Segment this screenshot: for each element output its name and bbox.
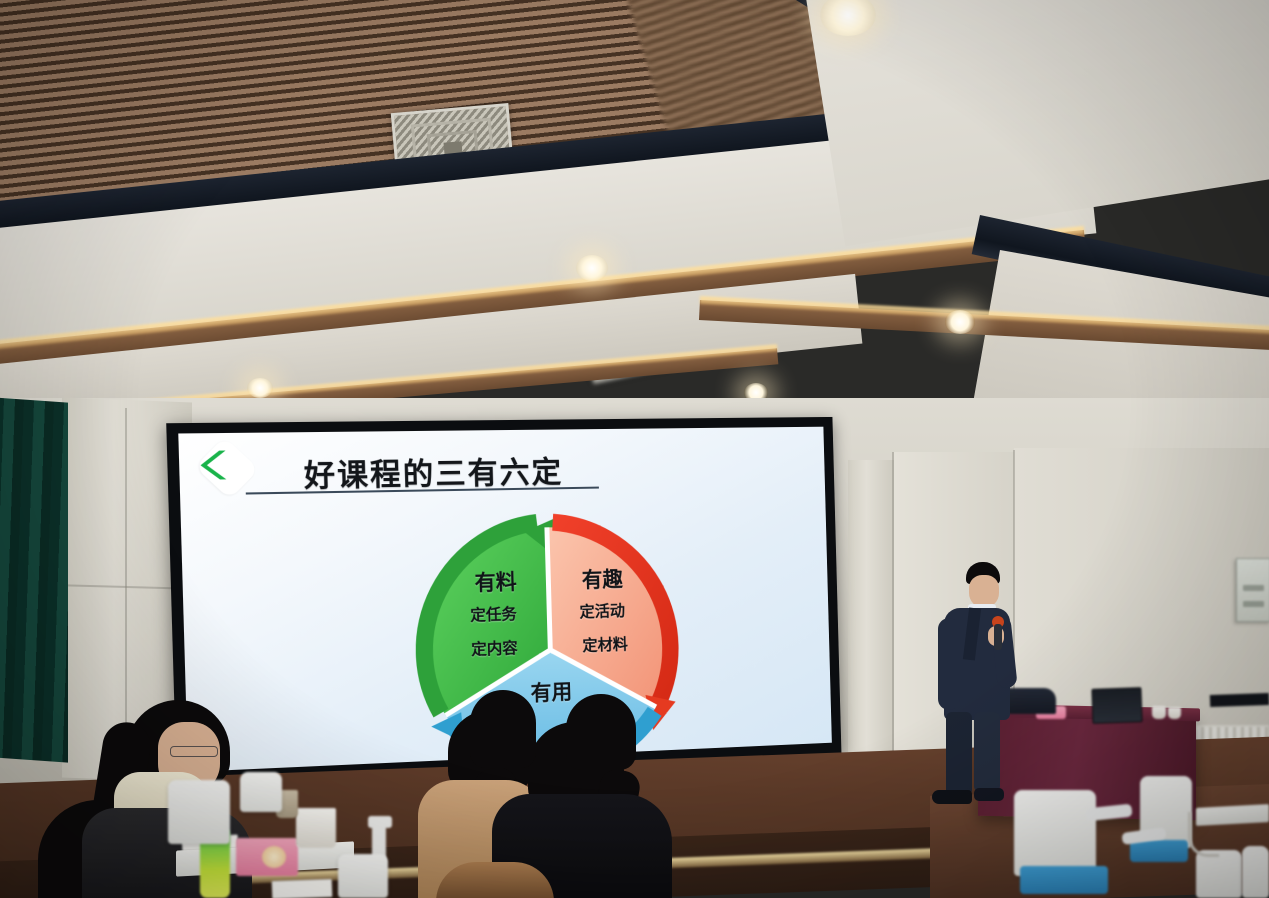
audience-member	[470, 690, 540, 770]
presenter-shoe	[932, 790, 972, 804]
desk-lamp-head	[368, 816, 392, 828]
audience-member	[436, 862, 556, 898]
downlight-icon	[576, 255, 608, 281]
presenter-leg-left	[946, 712, 972, 796]
wall-sign	[1236, 558, 1269, 622]
downlight-icon	[945, 310, 975, 334]
presenter-shoe	[974, 788, 1004, 801]
audience-member	[566, 694, 638, 774]
green-chevron-left-icon	[198, 447, 231, 483]
segment-red-heading: 有趣	[563, 563, 642, 595]
curtain	[0, 397, 68, 762]
presenter-leg-right	[974, 712, 1000, 792]
segment-green-item-2: 定内容	[449, 635, 540, 660]
ceiling-panel-right-1	[800, 0, 1269, 246]
chair	[168, 780, 230, 844]
chair-seat	[1020, 866, 1108, 894]
wall-seam	[892, 452, 894, 782]
wall-bracket	[1210, 693, 1269, 707]
segment-red-item-1: 定活动	[558, 598, 647, 622]
laptop	[1091, 687, 1142, 724]
segment-divider	[547, 527, 550, 650]
segment-green-item-1: 定任务	[448, 601, 539, 626]
presenter-arm-left	[938, 618, 960, 710]
chair	[240, 772, 282, 812]
chair	[1196, 850, 1242, 898]
paper-cup	[296, 808, 336, 848]
pink-case-highlight	[262, 846, 286, 868]
cable	[1188, 812, 1219, 857]
audience-hair	[470, 690, 536, 768]
audience-hair	[436, 862, 554, 898]
paper-cup	[1168, 707, 1181, 719]
audience-hair	[566, 694, 636, 770]
chair	[1242, 846, 1269, 898]
microphone-body	[994, 624, 1002, 650]
segment-red-item-2: 定材料	[561, 632, 649, 657]
segment-green-heading: 有料	[455, 566, 536, 598]
glasses-icon	[170, 746, 218, 757]
chair	[1014, 790, 1096, 876]
wall-pillar-right	[848, 460, 894, 790]
paper-cup	[1152, 706, 1166, 719]
chair	[338, 854, 388, 898]
chair-seat	[1130, 840, 1188, 862]
paper-sheet	[272, 879, 333, 898]
photo-scene: 好课程的三有六定	[0, 0, 1269, 898]
presenter	[920, 562, 1030, 818]
downlight-icon	[247, 378, 273, 398]
